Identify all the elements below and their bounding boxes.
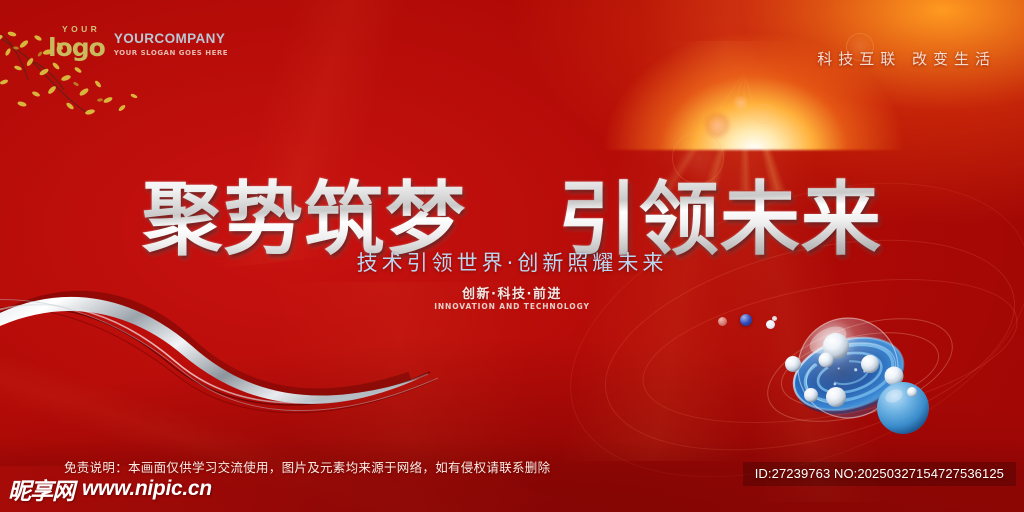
sunburst-halo-icon — [584, 0, 884, 90]
watermark-url[interactable]: www.nipic.cn — [82, 477, 212, 501]
lens-flare-bubble-icon — [702, 110, 732, 140]
logo-text-block: YOURCOMPANY YOUR SLOGAN GOES HERE — [114, 32, 228, 60]
company-name: YOURCOMPANY — [114, 32, 228, 47]
watermark[interactable]: 昵享网 www.nipic.cn — [8, 472, 212, 506]
floating-dot-icon — [740, 314, 752, 326]
logo-mark: YOUR logo — [48, 25, 105, 60]
logo-block[interactable]: YOUR logo YOURCOMPANY YOUR SLOGAN GOES H… — [48, 25, 228, 60]
company-slogan: YOUR SLOGAN GOES HERE — [114, 49, 228, 57]
logo-mark-word: logo — [48, 35, 105, 60]
lens-flare-bubble-icon — [754, 104, 774, 124]
watermark-brand: 昵享网 — [8, 472, 74, 506]
image-id-badge: ID:27239763 NO:20250327154727536125 — [743, 462, 1016, 486]
floating-dot-icon — [718, 317, 727, 326]
page-subtitle: 技术引领世界·创新照耀未来 — [0, 247, 1024, 277]
header-tagline: 科技互联 改变生活 — [817, 48, 996, 69]
blue-atom-orb-icon — [760, 300, 960, 440]
lens-flare-bubble-icon — [733, 95, 749, 111]
promo-banner: YOUR logo YOURCOMPANY YOUR SLOGAN GOES H… — [0, 0, 1024, 512]
